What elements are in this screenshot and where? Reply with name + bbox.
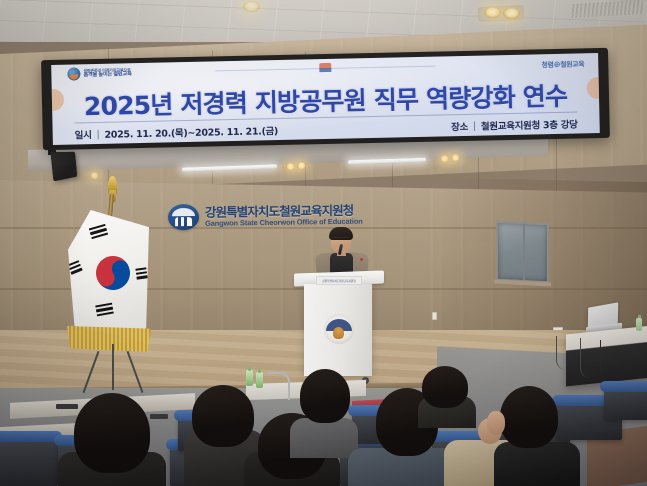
ceiling-spot-light	[503, 8, 520, 19]
audience-member-head	[192, 385, 254, 447]
banner-logo-text: 생명존중과 미래가치교육으로 품격을 높이는 철원교육	[83, 68, 131, 79]
office-emblem-icon	[168, 204, 199, 230]
education-office-logo-icon	[67, 67, 80, 80]
audience-member-head	[300, 369, 350, 423]
audience-member-shoulders	[290, 418, 358, 458]
korean-flag-stand	[62, 176, 162, 391]
banner-date-value: 2025. 11. 20.(목)~2025. 11. 21.(금)	[104, 123, 278, 141]
banner-place-separator: |	[473, 120, 476, 131]
auditorium-seat	[604, 386, 647, 420]
microphone-stand	[268, 372, 290, 400]
banner-content: 생명존중과 미래가치교육으로 품격을 높이는 철원교육 청렴⊕철원교육 2025…	[51, 53, 600, 145]
audience-member-head	[422, 366, 468, 408]
audience-member-shoulders	[494, 442, 580, 486]
power-cable	[580, 338, 594, 378]
wall-spot-light	[297, 162, 306, 169]
ceiling-spot-light	[243, 1, 260, 12]
banner-logo-line2: 품격을 높이는 철원교육	[83, 72, 131, 79]
trigram-gam-icon	[68, 260, 83, 274]
banner-place-value: 철원교육지원청 3층 강당	[481, 117, 578, 133]
banner-place-group: 장소 | 철원교육지원청 3층 강당	[451, 117, 578, 134]
wall-spot-light	[286, 163, 295, 170]
water-bottle	[246, 370, 253, 386]
water-bottle	[256, 372, 263, 388]
glasses-icon	[332, 237, 350, 241]
banner-date-separator: |	[96, 128, 99, 139]
audience-member-head	[74, 393, 150, 473]
auditorium-seat	[0, 436, 58, 486]
audience-member-face	[487, 411, 505, 435]
office-sign-text: 강원특별자치도철원교육지원청 Gangwon State Cheorwon Of…	[205, 204, 363, 228]
event-banner-screen: 생명존중과 미래가치교육으로 품격을 높이는 철원교육 청렴⊕철원교육 2025…	[41, 48, 610, 150]
flag-tripod-stand	[84, 344, 144, 392]
auditorium-photo-scene: 생명존중과 미래가치교육으로 품격을 높이는 철원교육 청렴⊕철원교육 2025…	[0, 0, 647, 486]
banner-logo-right: 청렴⊕철원교육	[541, 59, 584, 70]
trigram-gon-icon	[95, 303, 114, 317]
podium-emblem-icon	[324, 314, 354, 344]
power-cable	[600, 340, 610, 380]
banner-place-label: 장소	[451, 119, 468, 133]
power-cable	[556, 336, 574, 370]
taeguk-symbol-icon	[89, 249, 136, 296]
banner-date-group: 일시 | 2025. 11. 20.(목)~2025. 11. 21.(금)	[75, 123, 279, 141]
banner-logo-left: 생명존중과 미래가치교육으로 품격을 높이는 철원교육	[67, 66, 131, 80]
podium-body: 강원특별자치도철원교육지원청	[304, 284, 372, 376]
water-bottle	[636, 318, 642, 331]
banner-date-label: 일시	[75, 127, 92, 141]
korean-flag-icon	[68, 210, 149, 342]
audience-member-head	[500, 386, 558, 448]
wall-switch	[432, 312, 437, 320]
podium-name-plate: 강원특별자치도철원교육지원청	[316, 276, 362, 285]
seat-headrail	[600, 381, 647, 392]
sliding-window	[496, 221, 549, 284]
wall-spot-light	[451, 154, 460, 161]
trigram-ri-icon	[135, 267, 147, 279]
ceiling-spot-light	[484, 7, 501, 18]
desk-object	[56, 404, 78, 409]
desk-object	[150, 414, 168, 419]
lapel-badge-icon	[360, 258, 363, 261]
podium-lectern: 강원특별자치도철원교육지원청	[300, 272, 378, 384]
wall-spot-light	[440, 155, 449, 162]
trigram-geon-icon	[89, 224, 108, 239]
seat-headrail	[0, 431, 62, 442]
